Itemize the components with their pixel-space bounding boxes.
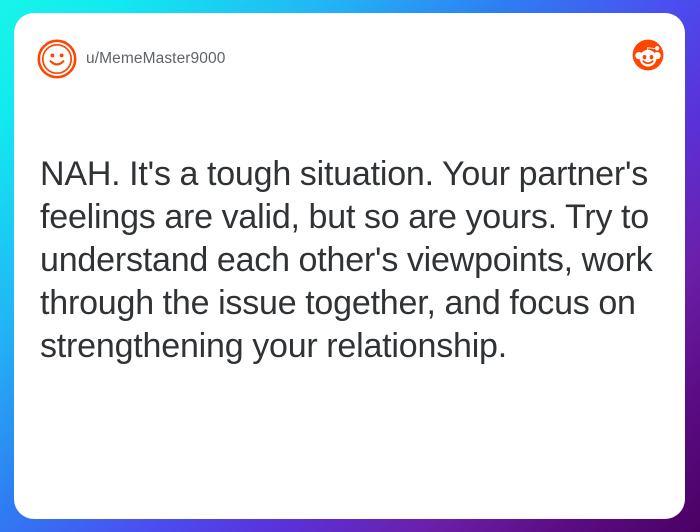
card-header: u/MemeMaster9000 xyxy=(14,13,685,101)
smiley-face-icon xyxy=(36,38,78,80)
card-body: NAH. It's a tough situation. Your partne… xyxy=(40,153,656,368)
comment-text: NAH. It's a tough situation. Your partne… xyxy=(40,153,656,368)
username-label: u/MemeMaster9000 xyxy=(86,38,225,80)
avatar[interactable] xyxy=(36,38,78,80)
reddit-comment-card: u/MemeMaster9000 xyxy=(14,13,685,519)
reddit-logo[interactable] xyxy=(632,39,664,71)
reddit-snoo-icon xyxy=(632,39,664,71)
gradient-background: u/MemeMaster9000 xyxy=(0,0,700,532)
